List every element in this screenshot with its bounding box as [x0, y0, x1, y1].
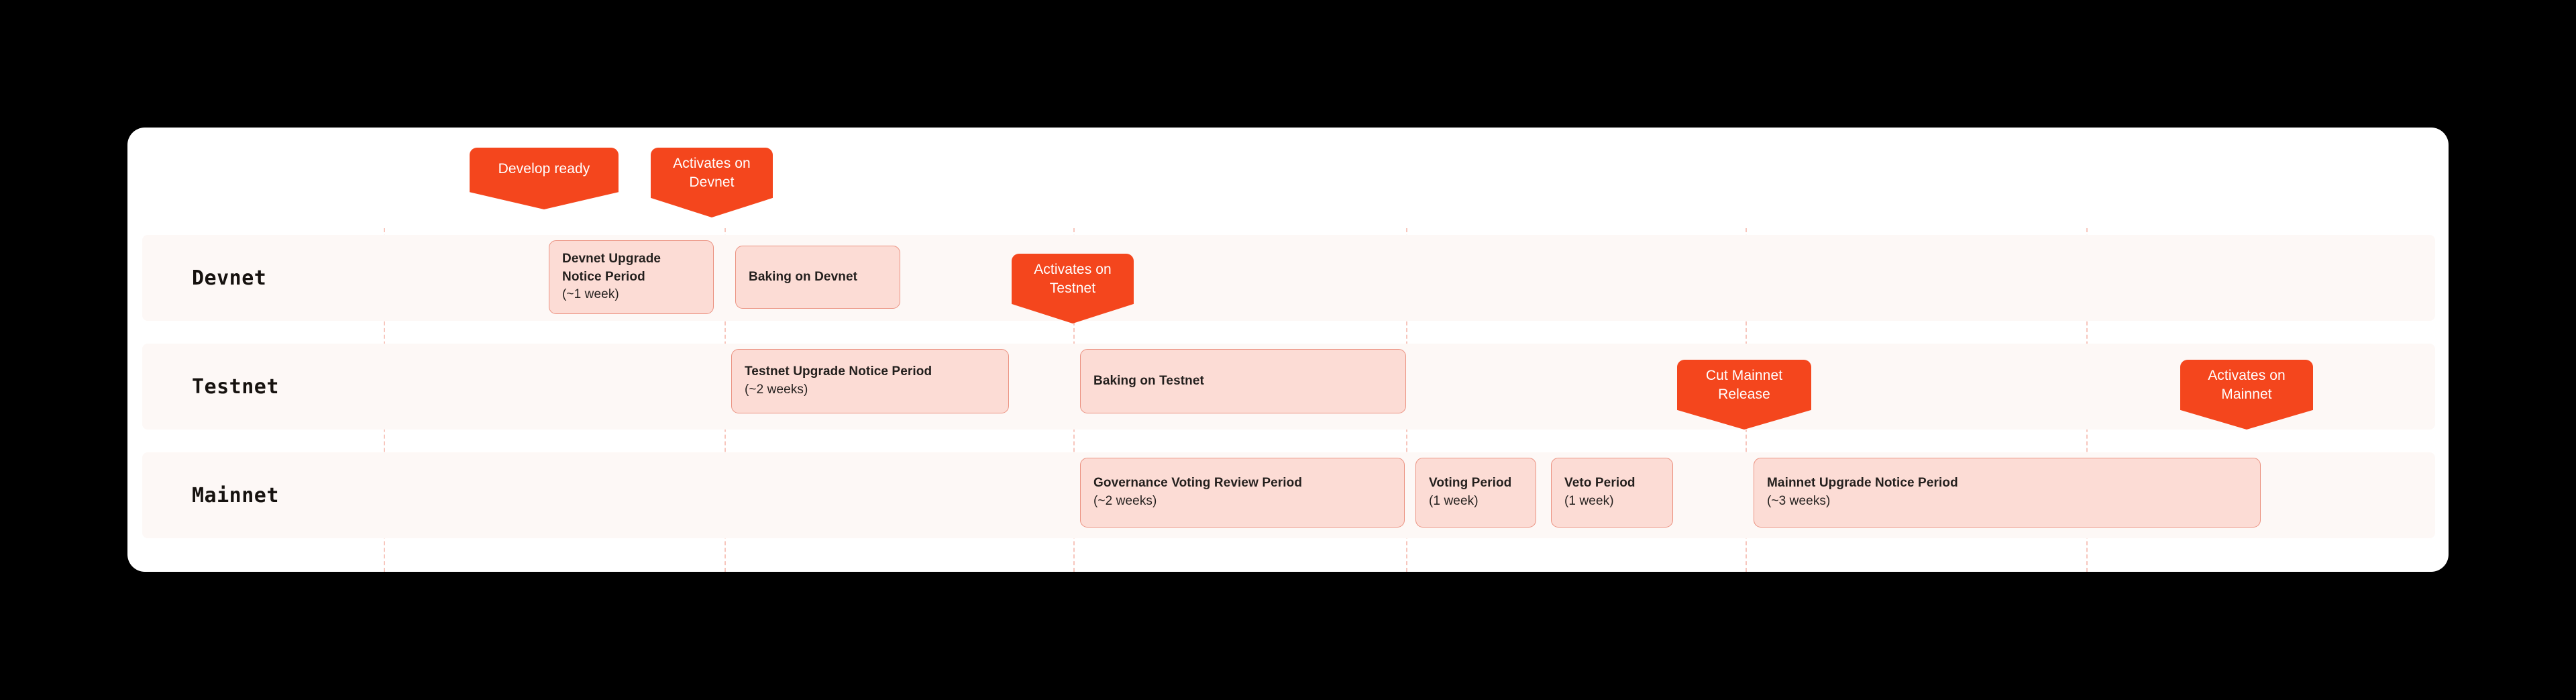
- milestone-label: Develop ready: [498, 160, 590, 179]
- bar-title: Voting Period: [1429, 474, 1523, 493]
- bar-duration: (~2 weeks): [745, 381, 996, 399]
- bar-testnet-upgrade-notice-period[interactable]: Testnet Upgrade Notice Period (~2 weeks): [731, 349, 1009, 413]
- bar-duration: (~3 weeks): [1767, 493, 2247, 511]
- milestone-cut-mainnet-release[interactable]: Cut Mainnet Release: [1677, 360, 1811, 430]
- bar-title: Veto Period: [1564, 474, 1660, 493]
- bar-title: Testnet Upgrade Notice Period: [745, 363, 996, 381]
- bar-voting-period[interactable]: Voting Period (1 week): [1415, 458, 1536, 528]
- timeline-card: Devnet Testnet Mainnet Devnet Upgrade No…: [127, 128, 2449, 572]
- bar-title: Devnet Upgrade Notice Period: [562, 250, 700, 287]
- bar-duration: (~1 week): [562, 286, 700, 304]
- bar-duration: (~2 weeks): [1093, 493, 1391, 511]
- bar-baking-on-devnet[interactable]: Baking on Devnet: [735, 246, 900, 309]
- lane-label-devnet: Devnet: [127, 235, 295, 321]
- lane-label-testnet: Testnet: [127, 344, 295, 430]
- bar-baking-on-testnet[interactable]: Baking on Testnet: [1080, 349, 1406, 413]
- milestone-label: Activates on Mainnet: [2208, 366, 2286, 403]
- lane-devnet: [142, 235, 2435, 321]
- pennant-shape: [470, 148, 619, 209]
- milestone-activates-on-mainnet[interactable]: Activates on Mainnet: [2180, 360, 2313, 430]
- bar-duration: (1 week): [1429, 493, 1523, 511]
- bar-devnet-upgrade-notice-period[interactable]: Devnet Upgrade Notice Period (~1 week): [549, 240, 714, 314]
- milestone-label: Cut Mainnet Release: [1706, 366, 1782, 403]
- bar-mainnet-upgrade-notice-period[interactable]: Mainnet Upgrade Notice Period (~3 weeks): [1754, 458, 2261, 528]
- lane-label-mainnet: Mainnet: [127, 452, 295, 538]
- bar-title: Mainnet Upgrade Notice Period: [1767, 474, 2247, 493]
- bar-duration: (1 week): [1564, 493, 1660, 511]
- bar-title: Baking on Devnet: [749, 268, 887, 287]
- timeline-diagram: Devnet Testnet Mainnet Devnet Upgrade No…: [0, 0, 2576, 700]
- bar-governance-voting-review-period[interactable]: Governance Voting Review Period (~2 week…: [1080, 458, 1405, 528]
- milestone-activates-on-devnet[interactable]: Activates on Devnet: [651, 148, 773, 217]
- milestone-develop-ready[interactable]: Develop ready: [470, 148, 619, 209]
- milestone-label: Activates on Devnet: [673, 154, 751, 191]
- milestone-activates-on-testnet[interactable]: Activates on Testnet: [1012, 254, 1134, 323]
- bar-title: Governance Voting Review Period: [1093, 474, 1391, 493]
- milestone-label: Activates on Testnet: [1034, 260, 1112, 297]
- bar-veto-period[interactable]: Veto Period (1 week): [1551, 458, 1673, 528]
- bar-title: Baking on Testnet: [1093, 372, 1393, 391]
